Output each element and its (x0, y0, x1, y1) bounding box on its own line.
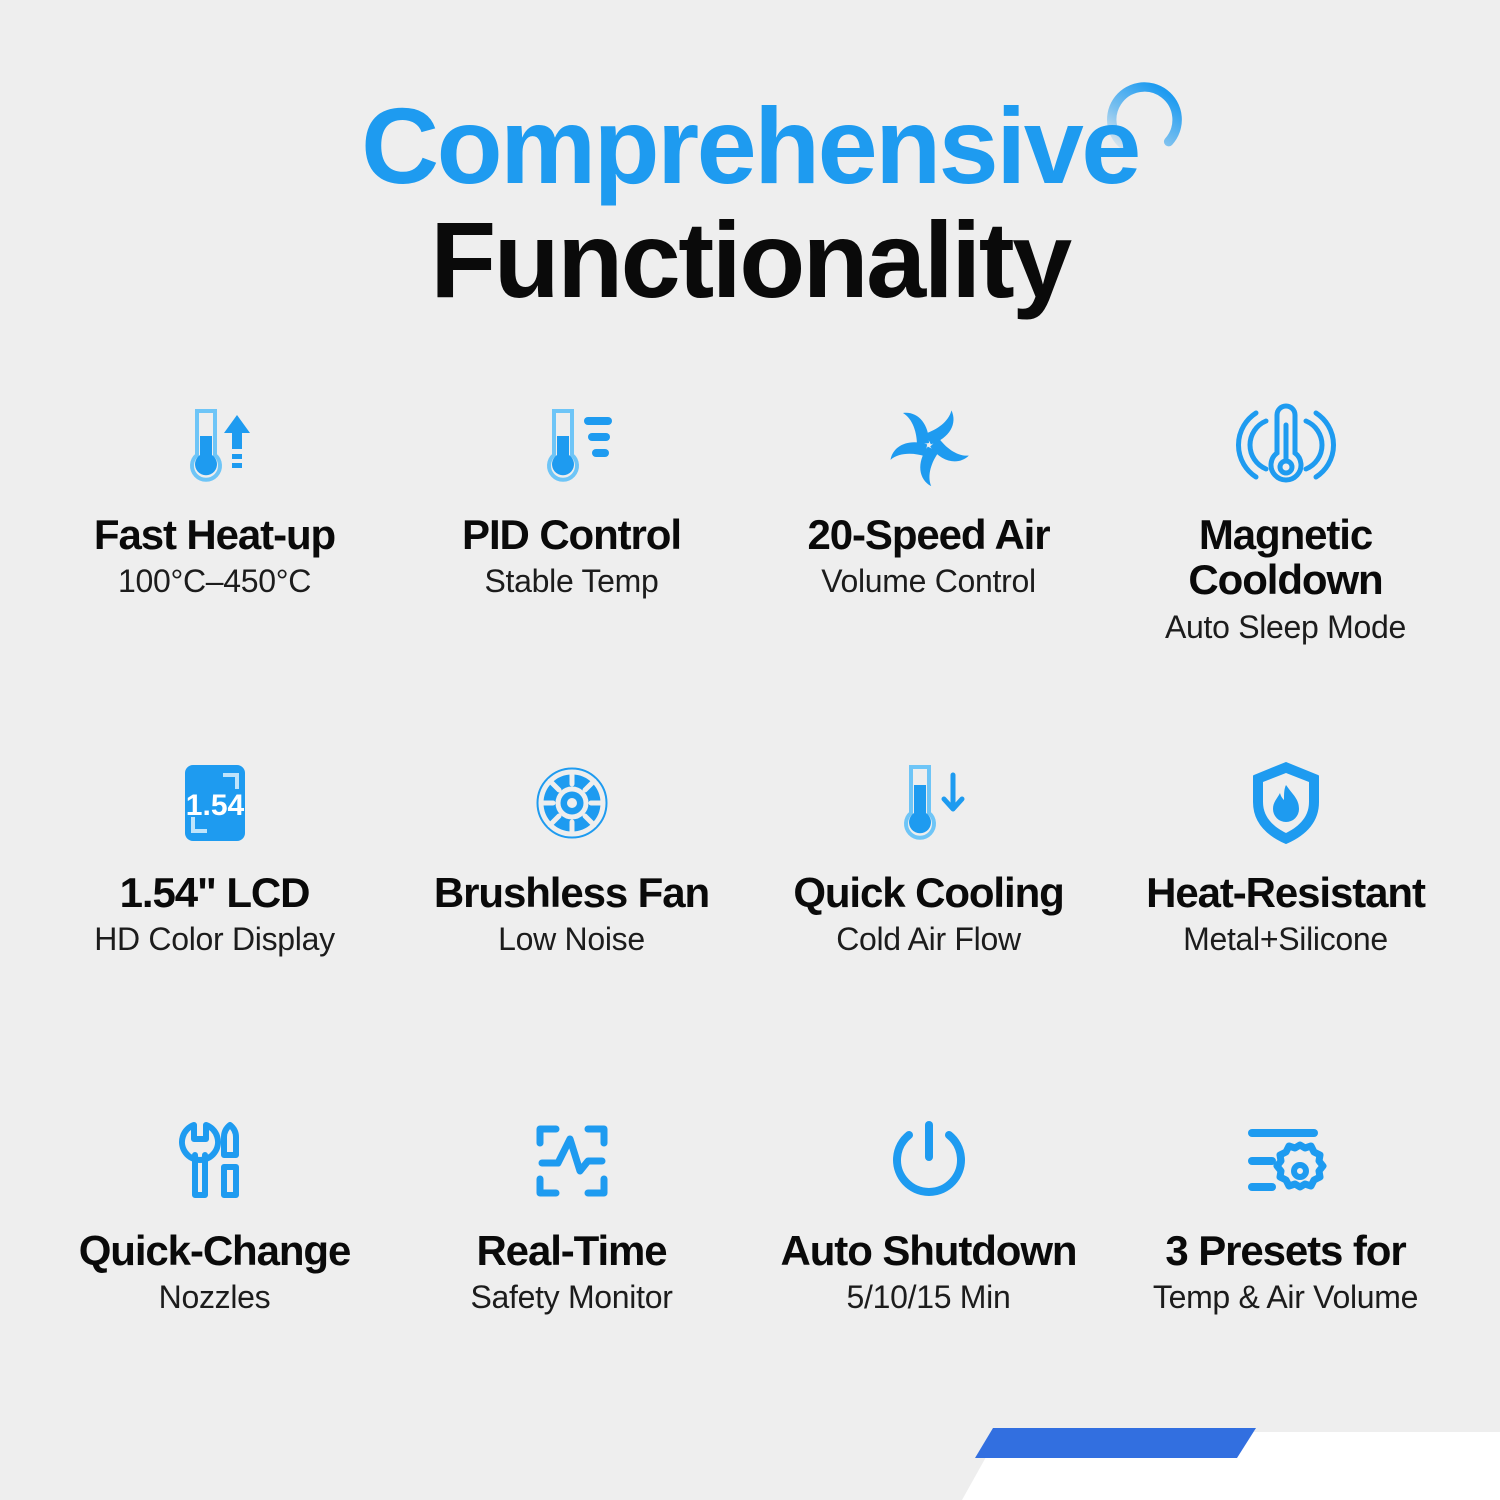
feature-title: 3 Presets for (1165, 1228, 1405, 1273)
feature-subtitle: Auto Sleep Mode (1165, 609, 1406, 646)
feature-title: Quick-Change (79, 1228, 351, 1273)
feature-item-auto-shutdown: Auto Shutdown 5/10/15 Min (750, 1102, 1107, 1460)
turbine-wheel-icon (516, 744, 628, 862)
page-header: Comprehensive Functionality (0, 0, 1500, 314)
lcd-screen-icon: 1.54 (159, 744, 271, 862)
feature-subtitle: Safety Monitor (470, 1279, 672, 1316)
thermometer-waves-icon (1230, 386, 1342, 504)
power-button-icon (873, 1102, 985, 1220)
feature-subtitle: HD Color Display (94, 921, 335, 958)
feature-item-brushless-fan: Brushless Fan Low Noise (393, 744, 750, 1102)
feature-item-presets: 3 Presets for Temp & Air Volume (1107, 1102, 1464, 1460)
feature-title: 1.54" LCD (120, 870, 310, 915)
pinwheel-fan-icon (873, 386, 985, 504)
wrench-screwdriver-icon (159, 1102, 271, 1220)
feature-title: Magnetic Cooldown (1111, 512, 1460, 603)
feature-title: Auto Shutdown (781, 1228, 1077, 1273)
feature-item-quick-cooling: Quick Cooling Cold Air Flow (750, 744, 1107, 1102)
feature-subtitle: Temp & Air Volume (1153, 1279, 1418, 1316)
page-title-secondary: Functionality (0, 206, 1500, 314)
feature-item-lcd: 1.54 1.54" LCD HD Color Display (36, 744, 393, 1102)
feature-item-quick-change: Quick-Change Nozzles (36, 1102, 393, 1460)
feature-item-magnetic-cooldown: Magnetic Cooldown Auto Sleep Mode (1107, 386, 1464, 744)
feature-subtitle: Volume Control (821, 563, 1036, 600)
feature-title: Quick Cooling (793, 870, 1063, 915)
feature-title: Fast Heat-up (94, 512, 335, 557)
page-title-primary-text: Comprehensive (361, 85, 1139, 206)
thermometer-down-icon (873, 744, 985, 862)
feature-subtitle: Stable Temp (485, 563, 659, 600)
feature-title: PID Control (462, 512, 681, 557)
feature-item-pid-control: PID Control Stable Temp (393, 386, 750, 744)
feature-subtitle: Low Noise (498, 921, 645, 958)
feature-item-fast-heat-up: Fast Heat-up 100°C–450°C (36, 386, 393, 744)
feature-item-heat-resistant: Heat-Resistant Metal+Silicone (1107, 744, 1464, 1102)
feature-title: Brushless Fan (434, 870, 709, 915)
feature-subtitle: Nozzles (159, 1279, 271, 1316)
feature-item-20-speed-air: 20-Speed Air Volume Control (750, 386, 1107, 744)
thermometer-lines-icon (516, 386, 628, 504)
feature-subtitle: 5/10/15 Min (847, 1279, 1011, 1316)
feature-item-real-time: Real-Time Safety Monitor (393, 1102, 750, 1460)
shield-flame-icon (1230, 744, 1342, 862)
feature-title: Heat-Resistant (1146, 870, 1425, 915)
feature-subtitle: Metal+Silicone (1183, 921, 1388, 958)
feature-grid: Fast Heat-up 100°C–450°C PID Control Sta… (0, 386, 1500, 1460)
pulse-scan-icon (516, 1102, 628, 1220)
page-title-primary: Comprehensive (361, 92, 1139, 200)
feature-title: Real-Time (476, 1228, 666, 1273)
sliders-gear-icon (1230, 1102, 1342, 1220)
feature-subtitle: 100°C–450°C (118, 563, 311, 600)
feature-title: 20-Speed Air (808, 512, 1050, 557)
thermometer-up-icon (159, 386, 271, 504)
feature-subtitle: Cold Air Flow (836, 921, 1021, 958)
lcd-screen-label: 1.54 (185, 789, 244, 822)
